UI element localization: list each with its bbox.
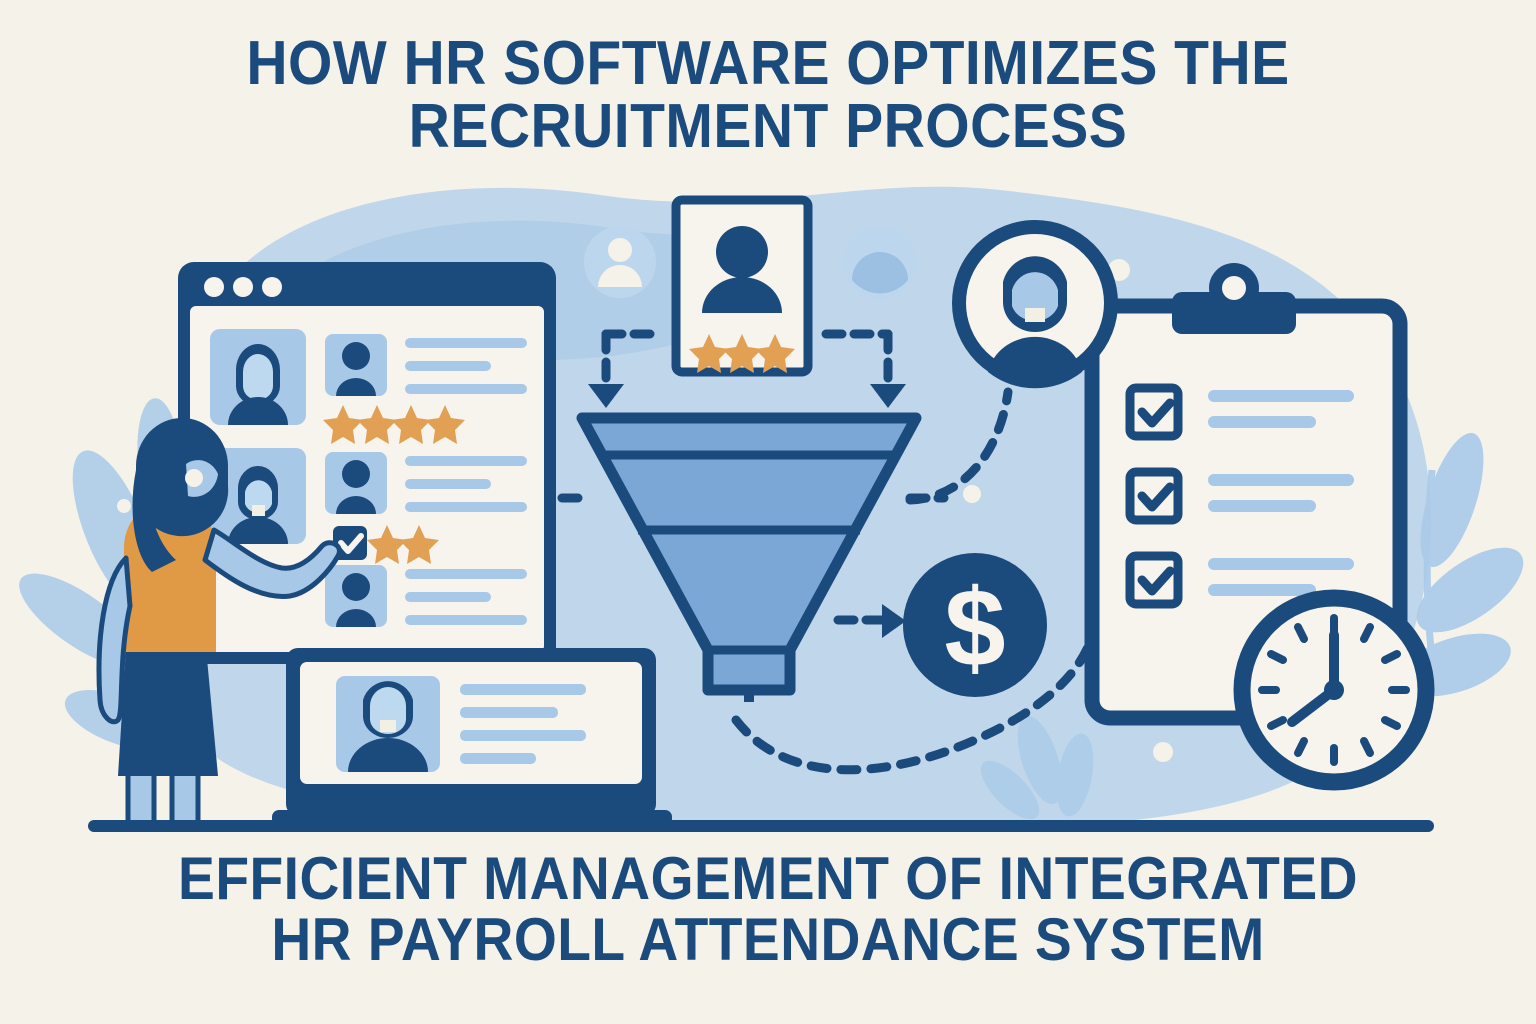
text-line (405, 479, 491, 489)
text-line (1208, 558, 1354, 570)
main-title-line-2: RECRUITMENT PROCESS (61, 95, 1474, 158)
text-line (1208, 474, 1354, 486)
bottom-caption: EFFICIENT MANAGEMENT OF INTEGRATED HR PA… (61, 848, 1474, 970)
ground-baseline (88, 820, 1434, 832)
infographic-canvas: $ (0, 0, 1536, 1024)
ghost-avatar-left (584, 226, 656, 298)
text-line (460, 753, 536, 764)
text-line (1208, 500, 1316, 512)
laptop-profile-card[interactable] (272, 648, 672, 826)
text-line (460, 730, 586, 741)
payroll-dollar-coin[interactable]: $ (903, 553, 1047, 697)
text-line (405, 569, 527, 579)
candidate-id-card[interactable] (676, 200, 808, 373)
candidate-list-browser-window[interactable] (178, 262, 556, 664)
text-line (460, 684, 586, 695)
text-line (1208, 416, 1316, 428)
text-line (405, 338, 527, 348)
text-line (405, 384, 527, 394)
dollar-symbol: $ (944, 567, 1005, 690)
text-line (1208, 584, 1316, 596)
ghost-avatar-right (844, 226, 916, 298)
text-line (405, 361, 491, 371)
clock-center-pin (1324, 680, 1344, 700)
text-line (1208, 390, 1354, 402)
text-line (405, 592, 491, 602)
main-title-line-1: HOW HR SOFTWARE OPTIMIZES THE (61, 32, 1474, 95)
main-title: HOW HR SOFTWARE OPTIMIZES THE RECRUITMEN… (61, 32, 1474, 158)
traffic-light-buttons[interactable] (204, 277, 282, 297)
bottom-caption-line-2: HR PAYROLL ATTENDANCE SYSTEM (61, 909, 1474, 970)
bottom-caption-line-1: EFFICIENT MANAGEMENT OF INTEGRATED (61, 848, 1474, 909)
text-line (460, 707, 558, 718)
text-line (405, 615, 527, 625)
text-line (405, 456, 527, 466)
attendance-clock (1242, 598, 1426, 782)
text-line (405, 502, 527, 512)
hired-employee-avatar[interactable] (959, 227, 1111, 388)
